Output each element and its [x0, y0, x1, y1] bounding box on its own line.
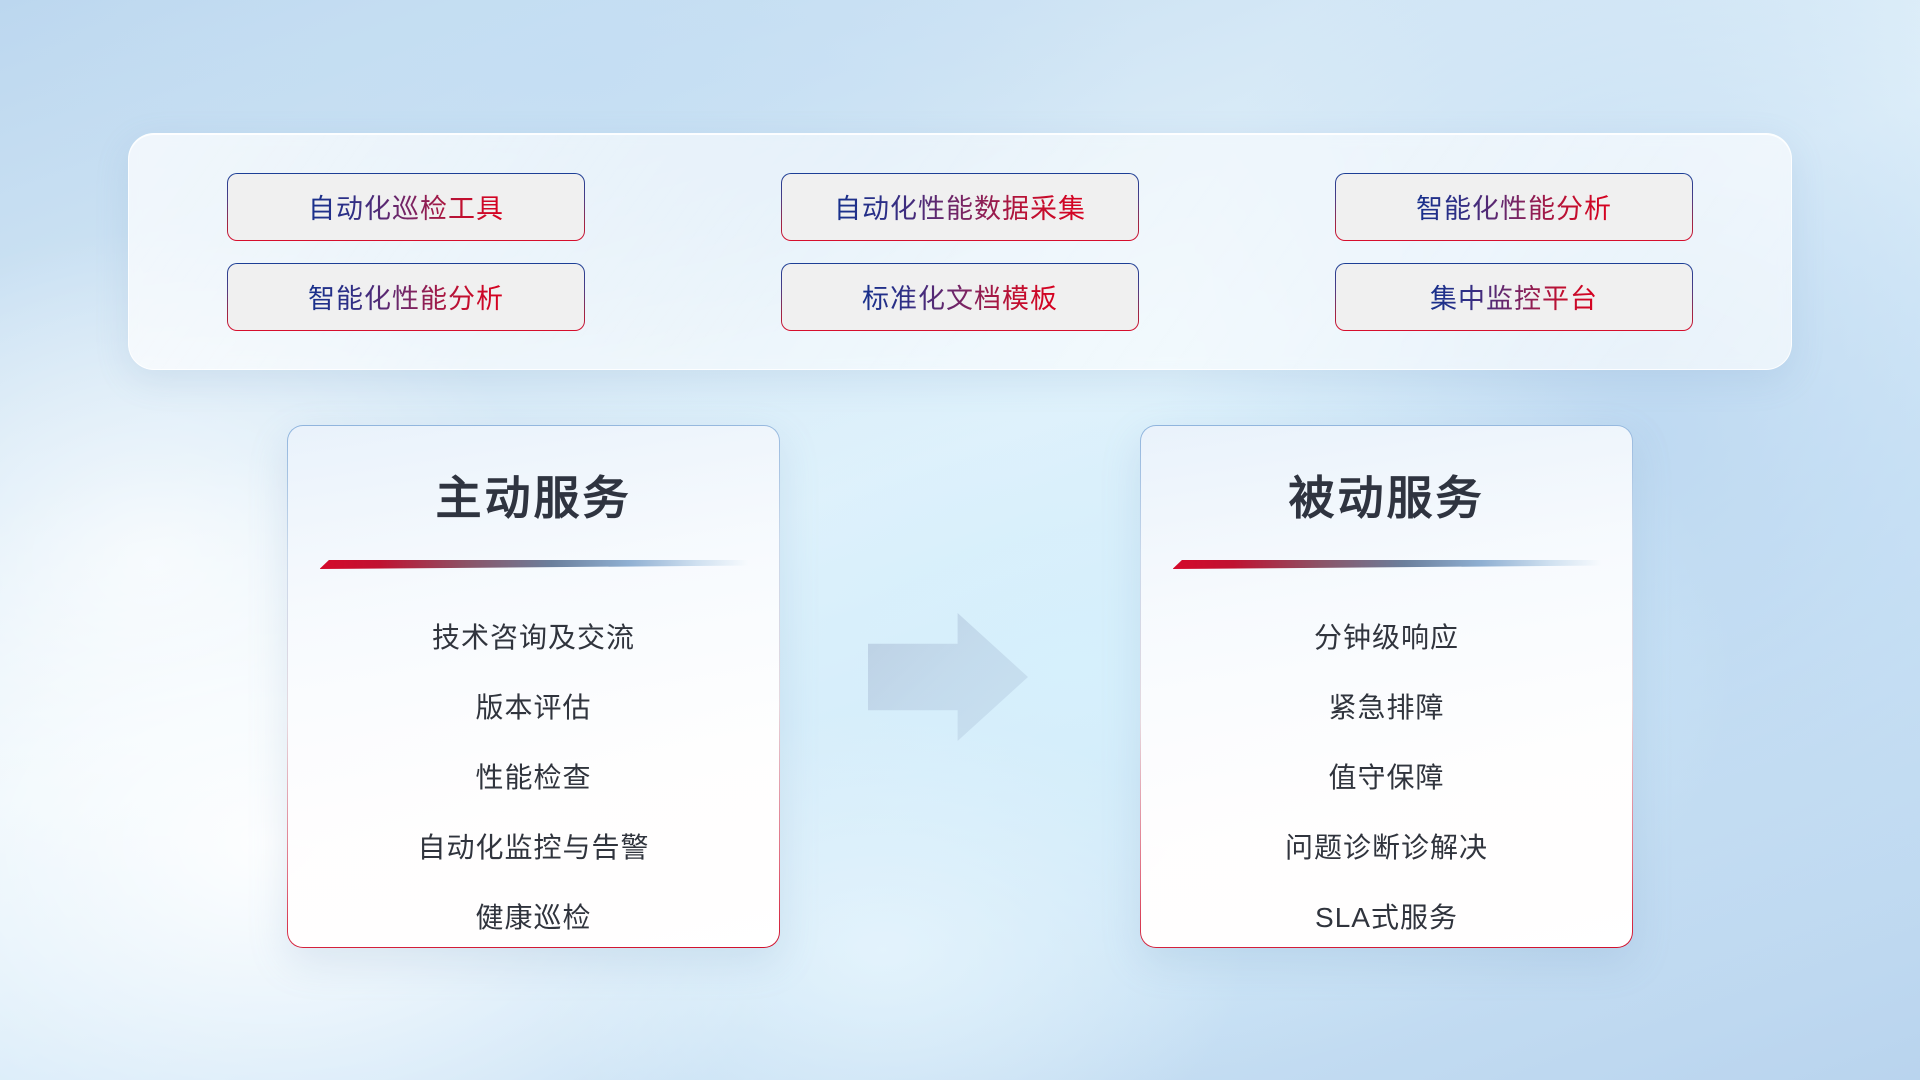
tag-row-2: 智能化性能分析 标准化文档模板 集中监控平台 — [227, 263, 1693, 331]
tag-label: 标准化文档模板 — [862, 277, 1058, 316]
card-divider — [1173, 560, 1601, 569]
tag-standardized-document-template[interactable]: 标准化文档模板 — [781, 263, 1139, 331]
list-item[interactable]: 值守保障 — [1141, 743, 1632, 813]
card-item-list: 分钟级响应 紧急排障 值守保障 问题诊断诊解决 SLA式服务 — [1141, 603, 1632, 948]
tag-centralized-monitoring-platform[interactable]: 集中监控平台 — [1335, 263, 1693, 331]
capability-tag-panel: 自动化巡检工具 自动化性能数据采集 智能化性能分析 智能化性能分析 标准化文档模… — [128, 133, 1792, 370]
tag-label: 集中监控平台 — [1430, 277, 1598, 316]
card-title: 主动服务 — [288, 462, 779, 528]
list-item[interactable]: 技术咨询及交流 — [288, 603, 779, 673]
tag-automated-performance-data-collection[interactable]: 自动化性能数据采集 — [781, 173, 1139, 241]
tag-intelligent-performance-analysis-2[interactable]: 智能化性能分析 — [227, 263, 585, 331]
tag-intelligent-performance-analysis[interactable]: 智能化性能分析 — [1335, 173, 1693, 241]
card-item-list: 技术咨询及交流 版本评估 性能检查 自动化监控与告警 健康巡检 — [288, 603, 779, 948]
list-item[interactable]: 性能检查 — [288, 743, 779, 813]
list-item[interactable]: 自动化监控与告警 — [288, 813, 779, 883]
tag-label: 智能化性能分析 — [308, 277, 504, 316]
list-item[interactable]: 版本评估 — [288, 673, 779, 743]
tag-row-1: 自动化巡检工具 自动化性能数据采集 智能化性能分析 — [227, 173, 1693, 241]
list-item[interactable]: 紧急排障 — [1141, 673, 1632, 743]
tag-label: 自动化巡检工具 — [308, 187, 504, 226]
list-item[interactable]: 问题诊断诊解决 — [1141, 813, 1632, 883]
card-divider — [320, 560, 748, 569]
tag-label: 自动化性能数据采集 — [834, 187, 1086, 226]
list-item[interactable]: SLA式服务 — [1141, 883, 1632, 948]
list-item[interactable]: 健康巡检 — [288, 883, 779, 948]
tag-label: 智能化性能分析 — [1416, 187, 1612, 226]
card-title: 被动服务 — [1141, 462, 1632, 528]
card-passive-service: 被动服务 分钟级响应 紧急排障 值守保障 问题诊断诊解决 SLA式服务 — [1140, 425, 1633, 948]
tag-automated-inspection-tool[interactable]: 自动化巡检工具 — [227, 173, 585, 241]
card-active-service: 主动服务 技术咨询及交流 版本评估 性能检查 自动化监控与告警 健康巡检 — [287, 425, 780, 948]
list-item[interactable]: 分钟级响应 — [1141, 603, 1632, 673]
